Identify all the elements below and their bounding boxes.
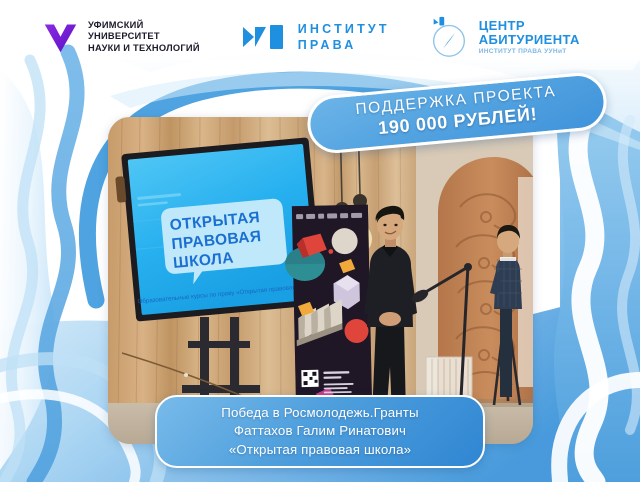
ufa-university-logo-text: УФИМСКИЙ УНИВЕРСИТЕТ НАУКИ И ТЕХНОЛОГИЙ [88, 20, 200, 54]
caption-line-1: Победа в Росмолодежь.Гранты [221, 404, 419, 422]
logo-line: УФИМСКИЙ [88, 20, 200, 31]
poster-canvas: УФИМСКИЙ УНИВЕРСИТЕТ НАУКИ И ТЕХНОЛОГИЙ … [0, 0, 640, 482]
logo-line: АБИТУРИЕНТА [479, 33, 580, 47]
ufa-university-logo: УФИМСКИЙ УНИВЕРСИТЕТ НАУКИ И ТЕХНОЛОГИЙ [42, 19, 200, 56]
logo-line: ПРАВА [298, 37, 390, 53]
bowtie-block-mark-icon [242, 23, 286, 51]
logo-subtitle: ИНСТИТУТ ПРАВА УУНиТ [479, 48, 580, 55]
applicant-center-logo: ЦЕНТР АБИТУРИЕНТА ИНСТИТУТ ПРАВА УУНиТ [426, 14, 580, 60]
institute-of-law-logo-text: ИНСТИТУТ ПРАВА [298, 21, 390, 53]
logo-bar: УФИМСКИЙ УНИВЕРСИТЕТ НАУКИ И ТЕХНОЛОГИЙ … [0, 0, 640, 74]
logo-line: ИНСТИТУТ [298, 21, 390, 37]
checkmark-v-mark-icon [42, 19, 79, 56]
applicant-center-logo-text: ЦЕНТР АБИТУРИЕНТА ИНСТИТУТ ПРАВА УУНиТ [479, 19, 580, 55]
caption-banner: Победа в Росмолодежь.Гранты Фаттахов Гал… [155, 395, 485, 468]
caption-line-2: Фаттахов Галим Ринатович [234, 422, 406, 440]
logo-line: НАУКИ И ТЕХНОЛОГИЙ [88, 43, 200, 54]
institute-of-law-logo: ИНСТИТУТ ПРАВА [242, 21, 390, 53]
logo-line: ЦЕНТР [479, 19, 580, 33]
compass-icon [426, 14, 472, 60]
logo-line: УНИВЕРСИТЕТ [88, 31, 200, 42]
caption-line-3: «Открытая правовая школа» [229, 441, 411, 459]
